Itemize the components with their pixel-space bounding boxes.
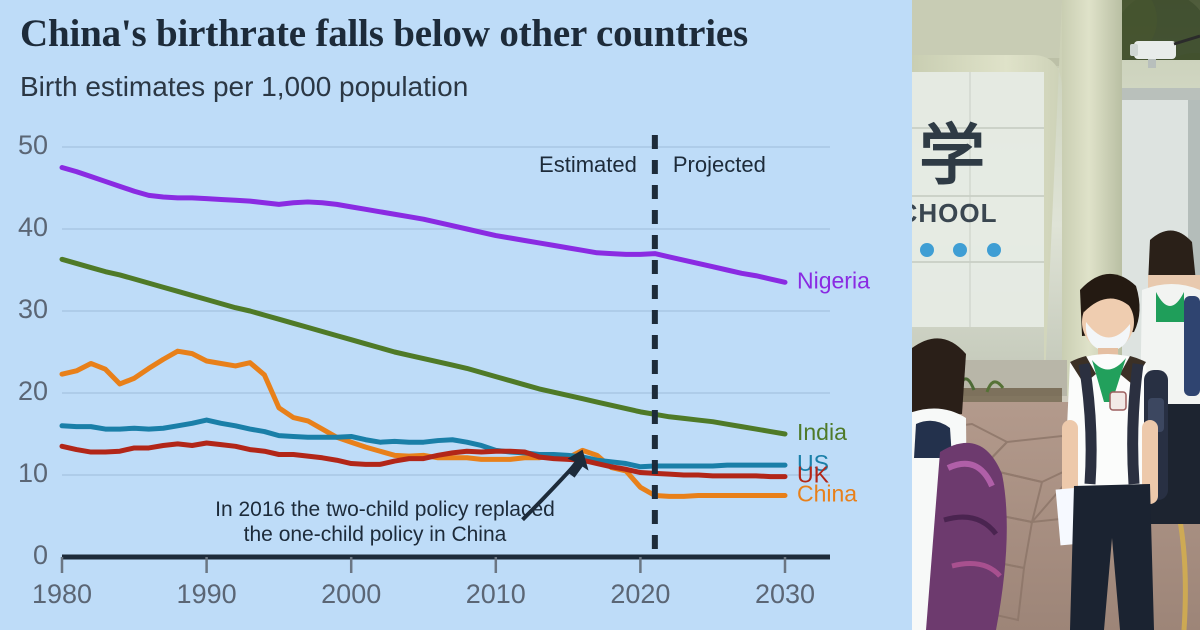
y-axis-tick-label: 50 [18,130,48,160]
x-axis-tick-label: 2000 [321,579,381,609]
x-axis-labels: 198019902000201020202030 [32,579,815,609]
chart-panel: China's birthrate falls below other coun… [0,0,912,630]
series-label-india: India [797,419,847,445]
infographic-root: China's birthrate falls below other coun… [0,0,1200,630]
chart-plot-area: 01020304050 198019902000201020202030 Est… [0,0,912,630]
y-axis-labels: 01020304050 [18,130,48,570]
series-line-nigeria [62,168,785,283]
x-axis-tick-label: 1980 [32,579,92,609]
sign-dot-icon [987,243,1001,257]
y-axis-tick-label: 0 [33,540,48,570]
y-axis-tick-label: 20 [18,376,48,406]
series-labels-group: NigeriaIndiaChinaUSUK [797,267,870,506]
sign-dot-icon [920,243,934,257]
school-photo: 学 CHOOL [912,0,1200,630]
line-chart-svg: 01020304050 198019902000201020202030 Est… [0,0,912,630]
series-line-uk [62,443,785,477]
sign-chinese-character: 学 [919,117,985,194]
projected-label: Projected [673,152,766,177]
sign-dot-icon [953,243,967,257]
series-label-nigeria: Nigeria [797,267,870,293]
annotation-line-2: the one-child policy in China [244,523,507,546]
series-lines-group [62,168,785,497]
y-axis-tick-label: 10 [18,458,48,488]
photo-panel: 学 CHOOL [912,0,1200,630]
x-axis-group [62,557,830,573]
sign-latin-text: CHOOL [912,198,997,228]
x-axis-tick-label: 2030 [755,579,815,609]
x-axis-tick-label: 2020 [610,579,670,609]
estimated-label: Estimated [539,152,637,177]
uniform-badge [1110,392,1126,410]
series-line-india [62,259,785,434]
series-label-uk: UK [797,462,830,488]
annotation-line-1: In 2016 the two-child policy replaced [215,498,555,521]
x-axis-tick-label: 1990 [177,579,237,609]
annotation-group: In 2016 the two-child policy replacedthe… [215,450,588,546]
y-axis-tick-label: 30 [18,294,48,324]
y-axis-tick-label: 40 [18,212,48,242]
x-axis-tick-label: 2010 [466,579,526,609]
